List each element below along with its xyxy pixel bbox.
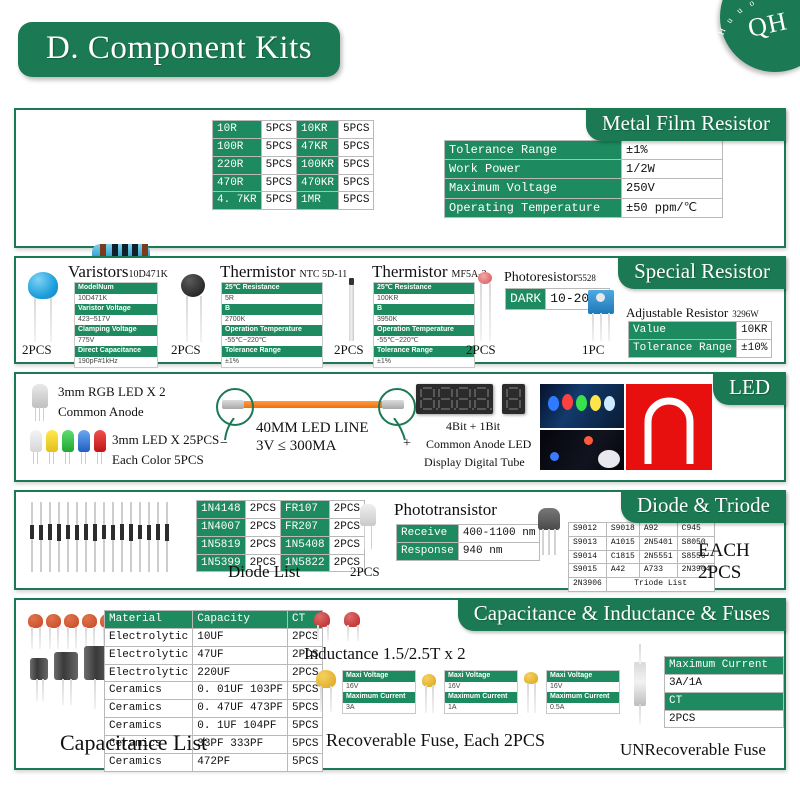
tube-label-3: Display Digital Tube [424, 455, 525, 470]
column-header: Capacity [193, 611, 288, 629]
logo-brand-letter: e [710, 58, 720, 62]
triode-list-table: S9012S9018A92C945S9013A10152N5401S8050S9… [568, 522, 715, 592]
led-pin-y2 [53, 452, 54, 464]
table-cell: 10UF [193, 628, 288, 646]
spec-row: 2700K [222, 315, 322, 326]
led-line-plus: + [403, 436, 411, 452]
spec-value: 400-1100 nm [458, 525, 540, 543]
phototransistor-spec-table: Receive400-1100 nmResponse940 nm [396, 524, 540, 561]
led-pin-g1 [65, 452, 66, 464]
fuse-spec-table-1: Maxi Voltage16VMaximum Current3A [343, 671, 415, 713]
logo-brand-arc: QeeaHuuo [730, 6, 800, 46]
table-row: S9012S9018A92C945 [569, 523, 715, 537]
led-photo-colors [540, 384, 624, 428]
table-cell: 2PCS [245, 518, 280, 536]
led-photo-strip [626, 384, 712, 470]
adjustable-title: Adjustable Resistor 3296W [626, 304, 759, 322]
to92-pin3 [554, 529, 556, 555]
table-row: Electrolytic47UF2PCS [105, 646, 323, 664]
varistor-spec-table: ModelNum10D471KVaristor Voltage423~517VC… [75, 283, 157, 367]
rgb-led-pin2 [39, 407, 40, 421]
table-cell: 10KR [297, 121, 339, 139]
section-title-special-resistor: Special Resistor [618, 256, 786, 289]
triode-last-model: 2N3906 [569, 578, 607, 592]
spec-key: Receive [397, 525, 459, 543]
spec-key: Tolerance Range [445, 141, 622, 160]
photoresistor-lead-right [489, 283, 491, 341]
fuse-spec-box-1: Maxi Voltage16VMaximum Current3A [342, 670, 416, 714]
table-cell: S9013 [569, 536, 607, 550]
varistor-spec-box: ModelNum10D471KVaristor Voltage423~517VC… [74, 282, 158, 368]
spec-value: 0.5A [547, 703, 619, 714]
table-cell: FR207 [281, 518, 330, 536]
phototransistor-title: Phototransistor [394, 500, 497, 520]
varistor-part-image [28, 272, 58, 299]
table-cell: 5PCS [261, 121, 296, 139]
ntc-spec-table: 25℃ Resistance5RB2700KOperation Temperat… [222, 283, 322, 367]
spec-value: 3A/1A [665, 674, 784, 692]
table-cell: 47KR [297, 138, 339, 156]
electrolytic-cap-2 [54, 652, 78, 680]
spec-row: 3A/1A [665, 674, 784, 692]
diode-part [156, 502, 160, 572]
spec-row: 10D471K [75, 294, 157, 305]
spec-value: 2PCS [665, 710, 784, 728]
led-pin-w1 [33, 452, 34, 464]
table-row: Ceramics0. 01UF 103PF5PCS [105, 682, 323, 700]
spec-key: Tolerance Range [374, 346, 474, 357]
spec-value: 5R [222, 294, 322, 305]
table-cell: Ceramics [105, 682, 193, 700]
spec-key: Tolerance Range [629, 339, 737, 357]
spec-value: 10KR [737, 322, 772, 340]
ntc-lead-left [186, 296, 188, 342]
table-cell: 1N5819 [197, 536, 246, 554]
spec-value: ±1% [222, 357, 322, 368]
diode-part [66, 502, 70, 572]
led-pin-r1 [97, 452, 98, 464]
rgb-led-label-2: Common Anode [58, 404, 144, 420]
to92-pin2 [548, 529, 550, 555]
table-cell: 2PCS [245, 536, 280, 554]
mf-qty: 2PCS [334, 342, 364, 358]
spec-row: Tolerance Range±1% [445, 141, 723, 160]
adjustable-resistor-image [588, 290, 614, 314]
resistor-value-table: 10R5PCS10KR5PCS100R5PCS47KR5PCS220R5PCS1… [212, 120, 374, 210]
diode-part [39, 502, 43, 572]
spec-row: Maxi Voltage [445, 671, 517, 682]
spec-value: 190pF#1kHz [75, 357, 157, 368]
tube-digit-3 [456, 387, 471, 411]
spec-key: 25℃ Resistance [374, 283, 474, 294]
ntc-qty: 2PCS [171, 342, 201, 358]
diode-part [93, 502, 97, 572]
potentiometer-screw [596, 293, 605, 302]
spec-row: Receive400-1100 nm [397, 525, 540, 543]
spec-key: Maximum Current [547, 692, 619, 703]
adjustable-spec-table: Value10KRTolerance Range±10% [628, 321, 772, 358]
phototransistor-image [360, 504, 376, 526]
mf-title: Thermistor MF5A-3 [372, 262, 487, 282]
table-cell: S9014 [569, 550, 607, 564]
spec-row: -55℃~220℃ [374, 336, 474, 347]
ceramic-cap-2 [46, 614, 61, 628]
diode-part [165, 502, 169, 572]
diode-part [120, 502, 124, 572]
spec-row: B [222, 304, 322, 315]
spec-key: 25℃ Resistance [222, 283, 322, 294]
spec-row: 16V [343, 682, 415, 693]
adjustable-qty: 1PC [582, 342, 604, 358]
spec-value: 2700K [222, 315, 322, 326]
pot-lead-3 [608, 313, 610, 341]
led-green [62, 430, 74, 452]
spec-key: Maximum Current [665, 657, 784, 675]
section-capacitance: MaterialCapacityCT Electrolytic10UF2PCSE… [14, 598, 786, 770]
spec-row: Tolerance Range [374, 346, 474, 357]
rgb-led-image [32, 384, 48, 408]
led-line-wire [232, 401, 390, 408]
spec-value: 16V [343, 682, 415, 693]
spec-row: Operation Temperature [222, 325, 322, 336]
table-row: 1N58192PCS1N54082PCS [197, 536, 365, 554]
spec-key: Direct Capacitance [75, 346, 157, 357]
spec-row: 190pF#1kHz [75, 357, 157, 368]
ceramic-cap-4 [82, 614, 97, 628]
section-title-diode-triode: Diode & Triode [621, 490, 786, 523]
table-cell: 1N4148 [197, 501, 246, 519]
table-cell: 2N5401 [639, 536, 677, 550]
tube-digit-1 [420, 387, 435, 411]
fuse-spec-table-2: Maxi Voltage16VMaximum Current1A [445, 671, 517, 713]
table-row: 220R5PCS100KR5PCS [213, 156, 374, 174]
table-cell: 220UF [193, 664, 288, 682]
photoresistor-name: Photoresistor [504, 270, 578, 285]
resistor-value-rows: 10R5PCS10KR5PCS100R5PCS47KR5PCS220R5PCS1… [213, 121, 374, 210]
spec-row: Clamping Voltage [75, 325, 157, 336]
page-title: D. Component Kits [18, 22, 340, 77]
diode-part [48, 502, 52, 572]
table-row: Electrolytic10UF2PCS [105, 628, 323, 646]
spec-row: Maxi Voltage [343, 671, 415, 682]
table-row: 470R5PCS470KR5PCS [213, 174, 374, 192]
spec-row: ±1% [374, 357, 474, 368]
table-cell: A733 [639, 564, 677, 578]
spec-row: 2PCS [665, 710, 784, 728]
spec-key: Operation Temperature [374, 325, 474, 336]
ceramic-cap-1 [28, 614, 43, 628]
section-title-capacitance: Capacitance & Inductance & Fuses [458, 598, 786, 631]
brand-logo: QH QeeaHuuo [720, 0, 800, 72]
spec-row: ±1% [222, 357, 322, 368]
diode-part [75, 502, 79, 572]
ntc-title: Thermistor NTC 5D-11 [220, 262, 347, 282]
spec-row: Tolerance Range±10% [629, 339, 772, 357]
spec-row: Direct Capacitance [75, 346, 157, 357]
fuse-spec-table-3: Maxi Voltage16VMaximum Current0.5A [547, 671, 619, 713]
logo-brand-letter: o [747, 0, 756, 8]
spec-row: 25℃ Resistance [222, 283, 322, 294]
spec-value: 423~517V [75, 315, 157, 326]
ntc-spec-box: 25℃ Resistance5RB2700KOperation Temperat… [221, 282, 323, 368]
capacitance-list-caption: Capacitance List [60, 730, 207, 756]
spec-value: 10D471K [75, 294, 157, 305]
led-count-label-1: 3mm LED X 25PCS [112, 432, 219, 448]
resistor-spec-table: Tolerance Range±1%Work Power1/2WMaximum … [444, 140, 723, 218]
diode-list-caption: Diode List [228, 562, 300, 582]
spec-row: 16V [547, 682, 619, 693]
diode-part [129, 502, 133, 572]
diode-part [30, 502, 34, 572]
tube-label-2: Common Anode LED [426, 437, 531, 452]
table-cell: 1N4007 [197, 518, 246, 536]
spec-key: Varistor Voltage [75, 304, 157, 315]
spec-value: -55℃~220℃ [374, 336, 474, 347]
table-cell: Electrolytic [105, 646, 193, 664]
spec-value: 16V [547, 682, 619, 693]
table-cell: FR107 [281, 501, 330, 519]
diode-part [57, 502, 61, 572]
logo-brand-letter: H [716, 26, 728, 36]
spec-key: Maxi Voltage [445, 671, 517, 682]
spec-key: Response [397, 542, 459, 560]
table-cell: Electrolytic [105, 628, 193, 646]
spec-row: 5R [222, 294, 322, 305]
spec-value: ±1% [374, 357, 474, 368]
recoverable-fuse-1 [316, 670, 336, 688]
unrecoverable-fuse-caption: UNRecoverable Fuse [620, 740, 766, 760]
spec-value: 16V [445, 682, 517, 693]
section-title-led: LED [713, 372, 786, 405]
phototransistor-pin1 [364, 525, 365, 549]
photoresistor-model: 5528 [578, 273, 596, 283]
spec-row: Work Power1/2W [445, 160, 723, 179]
inductance-label: Inductance 1.5/2.5T x 2 [304, 644, 466, 664]
spec-value: 3950K [374, 315, 474, 326]
table-cell: A42 [606, 564, 639, 578]
ntc-lead-right [200, 296, 202, 342]
spec-value: ±1% [622, 141, 723, 160]
table-cell: 4. 7KR [213, 192, 262, 210]
spec-row: 423~517V [75, 315, 157, 326]
diode-strip-image [30, 502, 180, 572]
phototransistor-qty: 2PCS [350, 564, 380, 580]
spec-key: Operating Temperature [445, 198, 622, 217]
photoresistor-qty: 2PCS [466, 342, 496, 358]
varistor-qty: 2PCS [22, 342, 52, 358]
table-cell: 2PCS [245, 501, 280, 519]
spec-key: Operation Temperature [222, 325, 322, 336]
table-cell: S9012 [569, 523, 607, 537]
mf-spec-box: 25℃ Resistance100KRB3950KOperation Tempe… [373, 282, 475, 368]
table-cell: C945 [677, 523, 715, 537]
spec-key: Maxi Voltage [343, 671, 415, 682]
spec-key: ModelNum [75, 283, 157, 294]
ntc-thermistor-image [181, 274, 205, 297]
capacitance-table-header: MaterialCapacityCT [105, 611, 323, 629]
logo-brand-letter: a [711, 43, 722, 49]
table-cell: 5PCS [339, 192, 374, 210]
spec-row: Maxi Voltage [547, 671, 619, 682]
spec-row: Maximum Current [665, 657, 784, 675]
table-cell: 5PCS [339, 156, 374, 174]
spec-row: Value10KR [629, 322, 772, 340]
varistor-lead-right [50, 298, 52, 342]
electrolytic-cap-1 [30, 658, 48, 680]
spec-row: 0.5A [547, 703, 619, 714]
diode-part [147, 502, 151, 572]
mf-thermistor-head [349, 278, 354, 285]
infographic-page: QH QeeaHuuo D. Component Kits Copper pin… [0, 0, 800, 800]
spec-key: Tolerance Range [222, 346, 322, 357]
section-metal-film-resistor: Copper pin Better Conductivity 10R5PCS10… [14, 108, 786, 248]
diode-part [111, 502, 115, 572]
table-cell: 5PCS [288, 735, 323, 753]
logo-brand-letter: e [711, 71, 722, 77]
spec-value: ±50 ppm/℃ [622, 198, 723, 217]
led-white [30, 430, 42, 452]
led-pin-b1 [81, 452, 82, 464]
logo-brand-letter: u [734, 5, 744, 16]
varistor-lead-left [34, 298, 36, 342]
spec-row: Response940 nm [397, 542, 540, 560]
diode-part [102, 502, 106, 572]
table-cell: A92 [639, 523, 677, 537]
table-cell: 10R [213, 121, 262, 139]
spec-row: B [374, 304, 474, 315]
led-red [94, 430, 106, 452]
table-row: 1N41482PCSFR1072PCS [197, 501, 365, 519]
spec-value: 250V [622, 179, 723, 198]
column-header: Material [105, 611, 193, 629]
spec-value: ±10% [737, 339, 772, 357]
spec-row: ModelNum [75, 283, 157, 294]
mf-name: Thermistor [372, 262, 448, 281]
spec-row: 1A [445, 703, 517, 714]
rgb-led-pin1 [35, 407, 36, 421]
table-cell: 5PCS [339, 121, 374, 139]
table-cell: 2N5551 [639, 550, 677, 564]
tube-digit-2 [438, 387, 453, 411]
section-led: 3mm RGB LED X 2 Common Anode 3mm LED X 2… [14, 372, 786, 482]
spec-value: -55℃~220℃ [222, 336, 322, 347]
spec-key: Maximum Current [445, 692, 517, 703]
table-row: Ceramics0. 47UF 473PF5PCS [105, 700, 323, 718]
digital-tube-image [416, 384, 493, 414]
table-cell: 100KR [297, 156, 339, 174]
led-yellow [46, 430, 58, 452]
table-cell: 5PCS [261, 192, 296, 210]
table-row: S9014C18152N5551S8550 [569, 550, 715, 564]
table-row: S9015A42A7332N3904 [569, 564, 715, 578]
table-cell: C1815 [606, 550, 639, 564]
unrecoverable-fuse-table: Maximum Current3A/1ACT2PCS [664, 656, 784, 728]
led-line-minus: − [220, 436, 228, 452]
tube-digit-4 [474, 387, 489, 411]
table-cell: 5PCS [339, 174, 374, 192]
ntc-name: Thermistor [220, 262, 296, 281]
spec-row: CT [665, 692, 784, 710]
rgb-led-label-1: 3mm RGB LED X 2 [58, 384, 166, 400]
tube-digit-5 [506, 387, 521, 411]
varistor-model: 10D471K [128, 269, 167, 280]
triode-each-qty: EACH 2PCS [698, 540, 784, 584]
diode-part [84, 502, 88, 572]
logo-brand-letter: u [724, 15, 735, 25]
spec-row: -55℃~220℃ [222, 336, 322, 347]
spec-key: B [222, 304, 322, 315]
table-cell: 5PCS [339, 138, 374, 156]
tube-label-1: 4Bit + 1Bit [446, 419, 500, 434]
fuse-spec-box-3: Maxi Voltage16VMaximum Current0.5A [546, 670, 620, 714]
table-cell: 5PCS [288, 718, 323, 736]
pot-lead-2 [600, 313, 602, 341]
digital-tube-single [502, 384, 525, 414]
rgb-led-pin3 [43, 407, 44, 421]
spec-row: Maximum Voltage250V [445, 179, 723, 198]
led-count-label-2: Each Color 5PCS [112, 452, 204, 468]
table-cell: S9018 [606, 523, 639, 537]
led-line-label-1: 40MM LED LINE [256, 420, 369, 437]
recoverable-fuse-caption: Recoverable Fuse, Each 2PCS [326, 730, 545, 751]
unrecoverable-fuse-image [634, 662, 646, 706]
table-cell: 5PCS [261, 138, 296, 156]
spec-key: Maximum Current [343, 692, 415, 703]
table-cell: Ceramics [105, 700, 193, 718]
table-cell: 47UF [193, 646, 288, 664]
spec-row: 3950K [374, 315, 474, 326]
resistor-spec-rows: Tolerance Range±1%Work Power1/2WMaximum … [445, 141, 723, 218]
section-special-resistor: 2PCS Varistors10D471K ModelNum10D471KVar… [14, 256, 786, 364]
table-cell: 0. 01UF 103PF [193, 682, 288, 700]
spec-key: Maxi Voltage [547, 671, 619, 682]
table-cell: 470KR [297, 174, 339, 192]
led-line-label-2: 3V ≤ 300MA [256, 438, 336, 455]
led-pin-y1 [49, 452, 50, 464]
led-pin-g2 [69, 452, 70, 464]
spec-key: Clamping Voltage [75, 325, 157, 336]
photoresistor-title: Photoresistor5528 [504, 268, 596, 286]
table-row: 100R5PCS47KR5PCS [213, 138, 374, 156]
table-cell: 220R [213, 156, 262, 174]
spec-key: B [374, 304, 474, 315]
logo-brand-letter: Q [715, 81, 727, 91]
table-cell: 100R [213, 138, 262, 156]
fuse-spec-box-2: Maxi Voltage16VMaximum Current1A [444, 670, 518, 714]
led-blue [78, 430, 90, 452]
triode-to92-image [538, 508, 560, 530]
spec-value: 3A [343, 703, 415, 714]
led-strip-shape [626, 384, 712, 470]
spec-row: Maximum Current [343, 692, 415, 703]
adjustable-model: 3296W [732, 309, 759, 319]
photoresistor-dark-key: DARK [506, 289, 546, 310]
varistor-name: Varistors [68, 262, 128, 281]
diode-part [138, 502, 142, 572]
led-pin-b2 [85, 452, 86, 464]
table-cell: A1015 [606, 536, 639, 550]
spec-row: 775V [75, 336, 157, 347]
spec-row: 16V [445, 682, 517, 693]
phototransistor-pin2 [371, 525, 372, 549]
table-cell: Electrolytic [105, 664, 193, 682]
table-row: 10R5PCS10KR5PCS [213, 121, 374, 139]
spec-key: Value [629, 322, 737, 340]
spec-row: Operation Temperature [374, 325, 474, 336]
table-cell: S9015 [569, 564, 607, 578]
to92-pin1 [542, 529, 544, 555]
spec-value: 940 nm [458, 542, 540, 560]
